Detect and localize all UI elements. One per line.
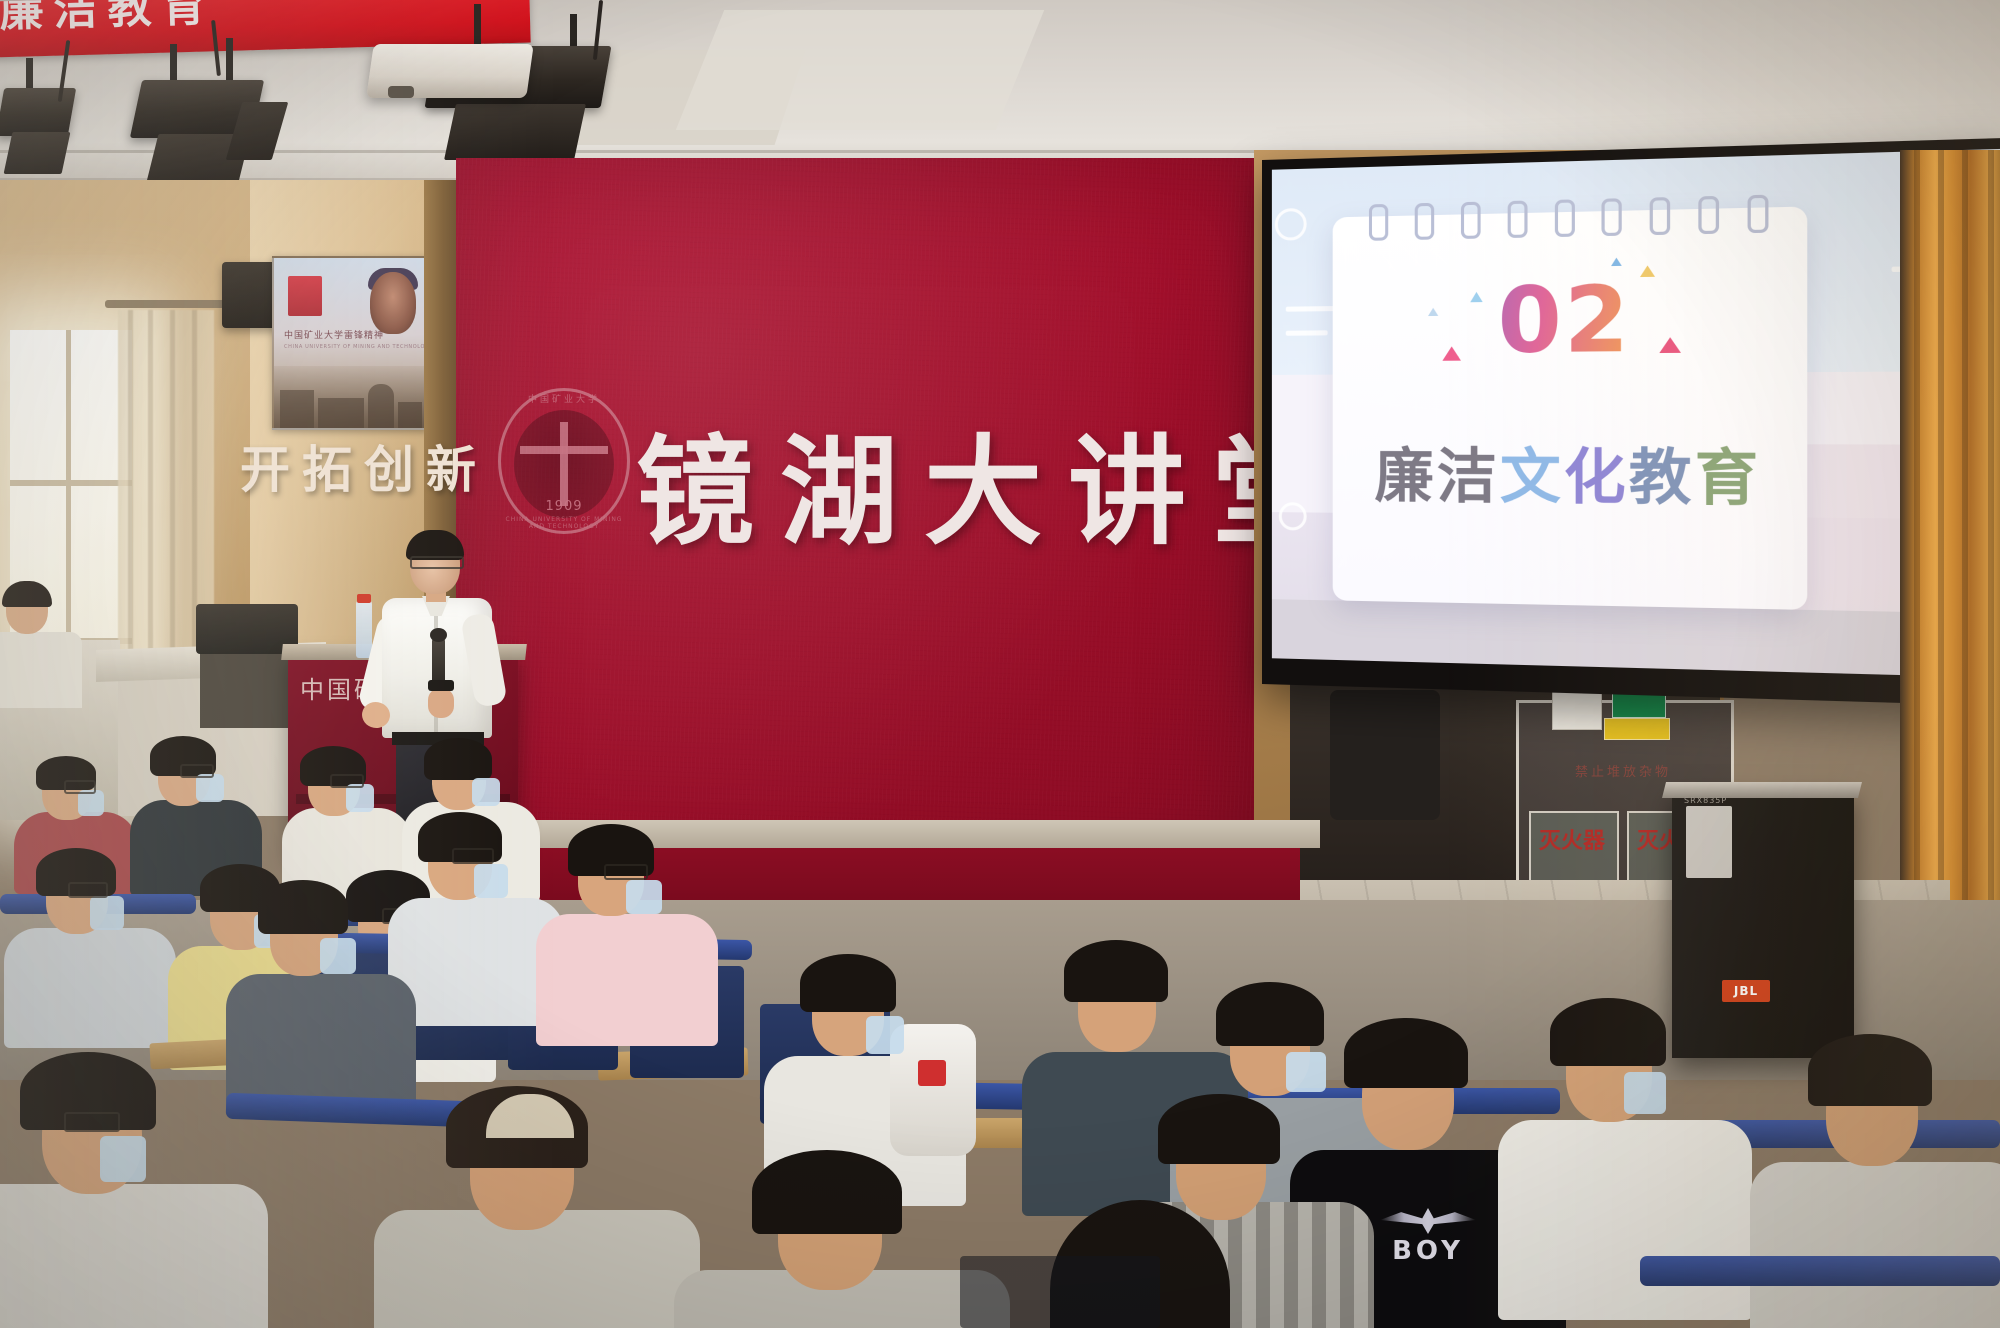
wristwatch-icon <box>428 680 454 691</box>
poster-seal-icon <box>288 276 322 316</box>
tshirt-graphic-text: BOY <box>1380 1236 1476 1266</box>
ceiling-tile <box>676 10 1044 130</box>
presenter-hand-right <box>428 688 454 718</box>
poster-campus-photo <box>274 366 426 428</box>
right-curtain <box>1900 150 2000 970</box>
fire-cabinet-label-left: 灭火器 <box>1529 823 1615 855</box>
backpack-logo <box>918 1060 946 1086</box>
lecture-hall-photo: 廉洁教育 中国矿业大学雷锋精神 <box>0 0 2000 1328</box>
emblem-year: 1909 <box>498 499 630 514</box>
slide-title-char: 廉 <box>1375 441 1437 510</box>
audience-member-foreground <box>0 1066 240 1328</box>
slide-section-number: 02 <box>1333 263 1807 375</box>
slide-title-char: 文 <box>1500 442 1564 512</box>
poster-subtitle: CHINA UNIVERSITY OF MINING AND TECHNOLOG… <box>284 344 404 350</box>
university-emblem-icon: 中国矿业大学 1909 CHINA UNIVERSITY OF MINING A… <box>498 388 630 534</box>
audience-member <box>400 820 550 1016</box>
av-equipment-stack <box>200 654 296 728</box>
slide-title-char: 化 <box>1564 442 1629 513</box>
glasses-icon <box>410 556 464 569</box>
emblem-arc-top: 中国矿业大学 <box>498 392 630 405</box>
wall-mounted-speaker <box>222 262 278 328</box>
wall-poster: 中国矿业大学雷锋精神 CHINA UNIVERSITY OF MINING AN… <box>272 256 428 430</box>
floor-speaker-model: SRX835P <box>1684 796 1727 805</box>
overhead-banner-text: 廉洁教育 <box>0 0 520 39</box>
audience-member <box>548 834 704 1036</box>
jbl-logo: JBL <box>1722 980 1770 1002</box>
warning-sign-icon <box>1604 718 1670 740</box>
microphone-head-icon <box>430 628 447 642</box>
slide-title-char: 洁 <box>1437 442 1500 512</box>
stored-chair <box>1330 690 1440 820</box>
hall-title: 镜湖大讲堂 <box>636 396 1356 567</box>
water-bottle-cap <box>357 594 371 603</box>
audience-member <box>20 856 166 1040</box>
audience-member-foreground <box>400 1100 670 1328</box>
audience-member <box>240 890 400 1100</box>
slide-bg-bottom <box>1272 600 2000 678</box>
slide-card: 02 廉洁文化教育 <box>1333 206 1807 610</box>
wall-motto: 开拓创新 <box>240 430 488 502</box>
slide-title-char: 育 <box>1695 442 1762 514</box>
seat-shadow <box>960 1256 1160 1328</box>
poster-portrait <box>370 272 416 334</box>
poster-title: 中国矿业大学雷锋精神 <box>284 328 394 341</box>
projector-lens-icon <box>388 86 414 98</box>
door-notice-text: 禁止堆放杂物 <box>1533 761 1713 780</box>
floor-speaker-label <box>1686 806 1732 878</box>
slide-title: 廉洁文化教育 <box>1333 428 1807 518</box>
projected-slide: 02 廉洁文化教育 <box>1272 149 2000 678</box>
seat-rail <box>1640 1256 2000 1286</box>
emblem-arc-bottom: CHINA UNIVERSITY OF MINING AND TECHNOLOG… <box>498 516 630 530</box>
seated-staff-member <box>0 586 110 706</box>
water-bottle <box>356 600 372 658</box>
curtain-rod <box>105 300 225 308</box>
slide-title-char: 教 <box>1629 442 1695 513</box>
projection-screen: 02 廉洁文化教育 <box>1262 138 2000 706</box>
audience-member-foreground <box>700 1166 980 1328</box>
